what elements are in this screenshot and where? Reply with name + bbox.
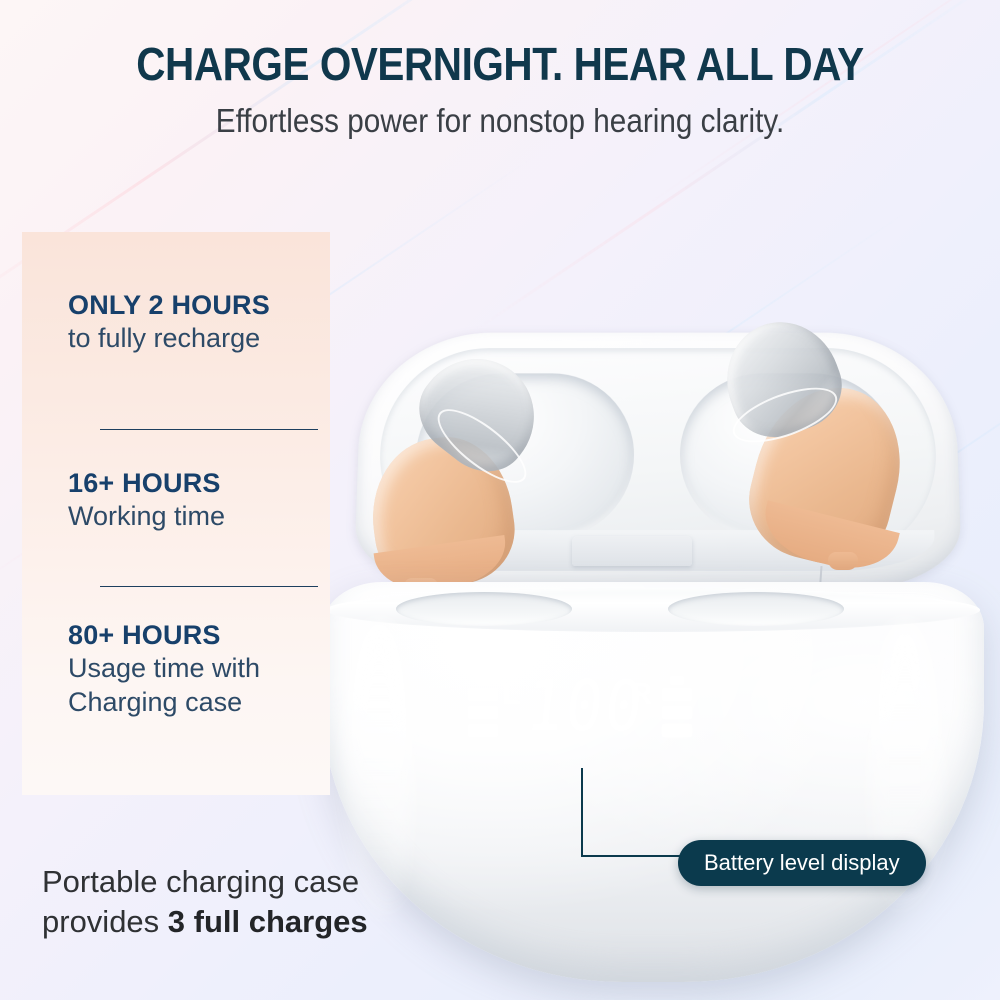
- infographic-canvas: CHARGE OVERNIGHT. HEAR ALL DAY Effortles…: [0, 0, 1000, 1000]
- feature-2-title: 16+ HOURS: [68, 468, 330, 499]
- page-subtitle: Effortless power for nonstop hearing cla…: [50, 101, 950, 141]
- caption-line-1: Portable charging case: [42, 862, 462, 902]
- feature-3-title: 80+ HOURS: [68, 620, 330, 651]
- caption-line-2: provides 3 full charges: [42, 902, 462, 942]
- case-well-right: [668, 592, 844, 626]
- features-panel: ONLY 2 HOURS to fully recharge 16+ HOURS…: [22, 232, 330, 795]
- page-title: CHARGE OVERNIGHT. HEAR ALL DAY: [60, 38, 940, 90]
- feature-2-subtitle: Working time: [68, 499, 330, 533]
- battery-icon-right: [662, 676, 692, 742]
- caption-highlight: 3 full charges: [168, 904, 368, 939]
- feature-item-3: 80+ HOURS Usage time with Charging case: [68, 620, 330, 719]
- feature-divider-1: [100, 429, 318, 430]
- caption-line-2-plain: provides: [42, 904, 168, 939]
- feature-1-subtitle: to fully recharge: [68, 321, 330, 355]
- battery-icon-left: [468, 676, 498, 742]
- callout-battery-level-display: Battery level display: [678, 840, 926, 886]
- feature-item-1: ONLY 2 HOURS to fully recharge: [68, 290, 330, 355]
- hearing-aid-right-nub: [828, 552, 858, 570]
- feature-divider-2: [100, 586, 318, 587]
- battery-cap-left: [476, 676, 490, 685]
- hearing-aid-right: [700, 320, 950, 600]
- display-label-left: L: [502, 678, 521, 709]
- battery-cap-right: [670, 676, 684, 685]
- callout-label: Battery level display: [704, 850, 900, 876]
- hearing-aid-left: [366, 352, 596, 602]
- feature-item-2: 16+ HOURS Working time: [68, 468, 330, 533]
- feature-1-title: ONLY 2 HOURS: [68, 290, 330, 321]
- case-well-left: [396, 592, 572, 626]
- battery-level-display: L 100 R: [468, 670, 692, 756]
- feature-3-subtitle: Usage time with Charging case: [68, 651, 330, 719]
- display-label-right: R: [630, 678, 652, 709]
- bottom-caption: Portable charging case provides 3 full c…: [42, 862, 462, 942]
